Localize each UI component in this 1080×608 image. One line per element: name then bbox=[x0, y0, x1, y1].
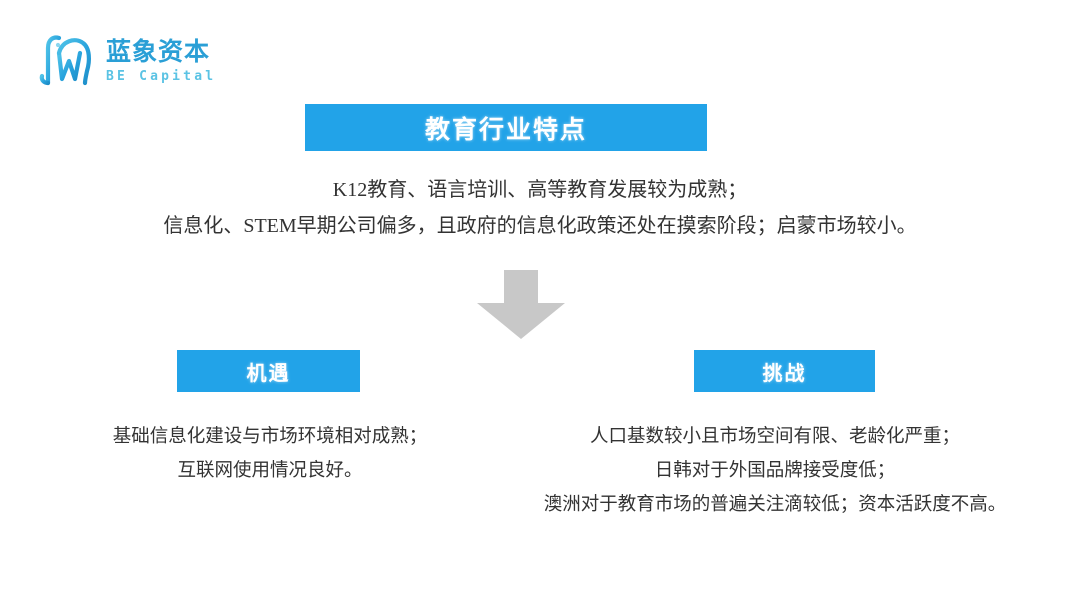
elephant-fw-monogram-icon bbox=[28, 31, 100, 87]
opportunity-line-1: 基础信息化建设与市场环境相对成熟； bbox=[60, 420, 480, 454]
page-title: 教育行业特点 bbox=[425, 110, 587, 146]
opportunity-line-2: 互联网使用情况良好。 bbox=[60, 454, 480, 488]
challenge-header-label: 挑战 bbox=[763, 357, 807, 386]
challenge-line-2: 日韩对于外国品牌接受度低； bbox=[520, 454, 1030, 488]
opportunity-paragraph: 基础信息化建设与市场环境相对成熟； 互联网使用情况良好。 bbox=[60, 420, 480, 488]
brand-logo: 蓝象资本 BE Capital bbox=[28, 28, 228, 90]
intro-paragraph: K12教育、语言培训、高等教育发展较为成熟； 信息化、STEM早期公司偏多，且政… bbox=[90, 172, 990, 244]
challenge-line-1: 人口基数较小且市场空间有限、老龄化严重； bbox=[520, 420, 1030, 454]
challenge-paragraph: 人口基数较小且市场空间有限、老龄化严重； 日韩对于外国品牌接受度低； 澳洲对于教… bbox=[520, 420, 1030, 522]
intro-line-2: 信息化、STEM早期公司偏多，且政府的信息化政策还处在摸索阶段；启蒙市场较小。 bbox=[90, 208, 990, 244]
down-arrow-icon bbox=[476, 270, 566, 340]
challenge-header-box: 挑战 bbox=[694, 350, 875, 392]
challenge-line-3: 澳洲对于教育市场的普遍关注滴较低；资本活跃度不高。 bbox=[520, 488, 1030, 522]
brand-name-en: BE Capital bbox=[106, 70, 216, 83]
intro-line-1: K12教育、语言培训、高等教育发展较为成熟； bbox=[90, 172, 990, 208]
section-title-box: 教育行业特点 bbox=[305, 104, 707, 151]
opportunity-header-label: 机遇 bbox=[247, 357, 291, 386]
slide-canvas: 蓝象资本 BE Capital 教育行业特点 K12教育、语言培训、高等教育发展… bbox=[0, 0, 1080, 608]
brand-logo-text: 蓝象资本 BE Capital bbox=[106, 36, 216, 83]
opportunity-header-box: 机遇 bbox=[177, 350, 360, 392]
brand-name-cn: 蓝象资本 bbox=[106, 40, 216, 65]
